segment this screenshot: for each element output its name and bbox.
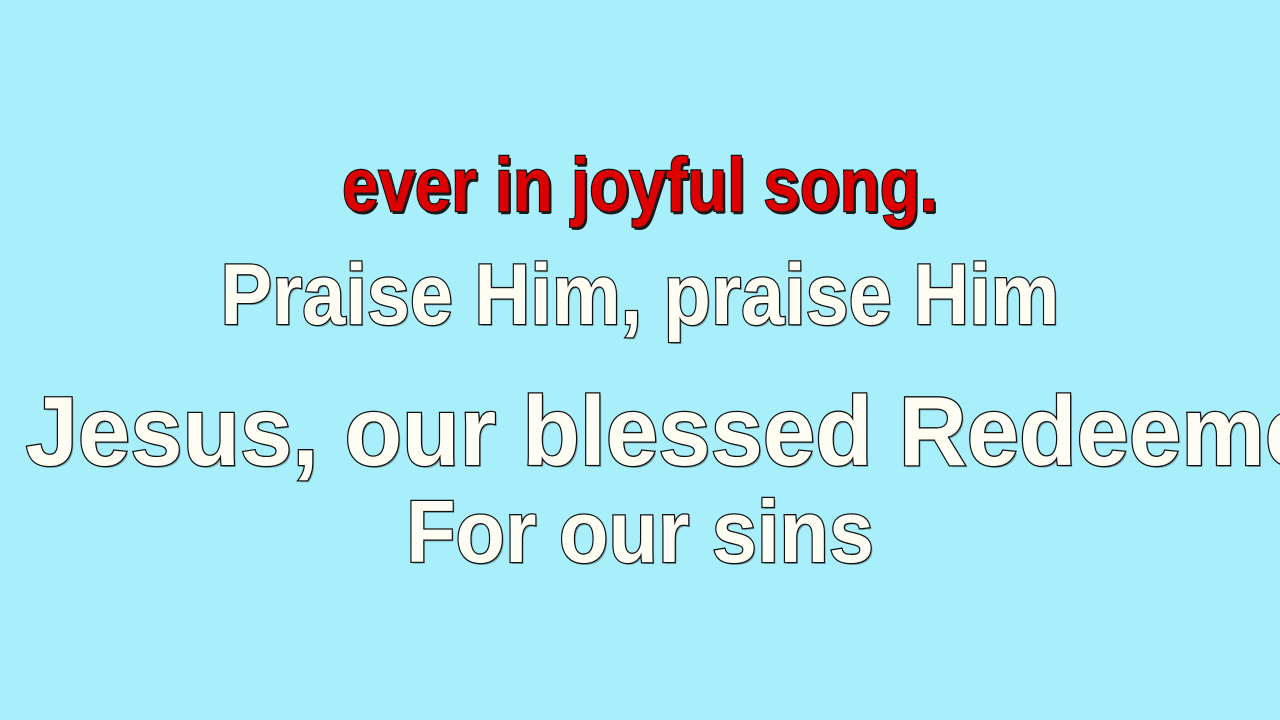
lyrics-slide: ever in joyful song. Praise Him, praise … <box>0 0 1280 720</box>
lyric-line-4: For our sins <box>51 488 1229 576</box>
lyric-line-sung: ever in joyful song. <box>90 148 1191 224</box>
lyric-line-3: Jesus, our blessed Redeemer, <box>26 382 1255 480</box>
lyric-line-2: Praise Him, praise Him <box>64 252 1216 338</box>
